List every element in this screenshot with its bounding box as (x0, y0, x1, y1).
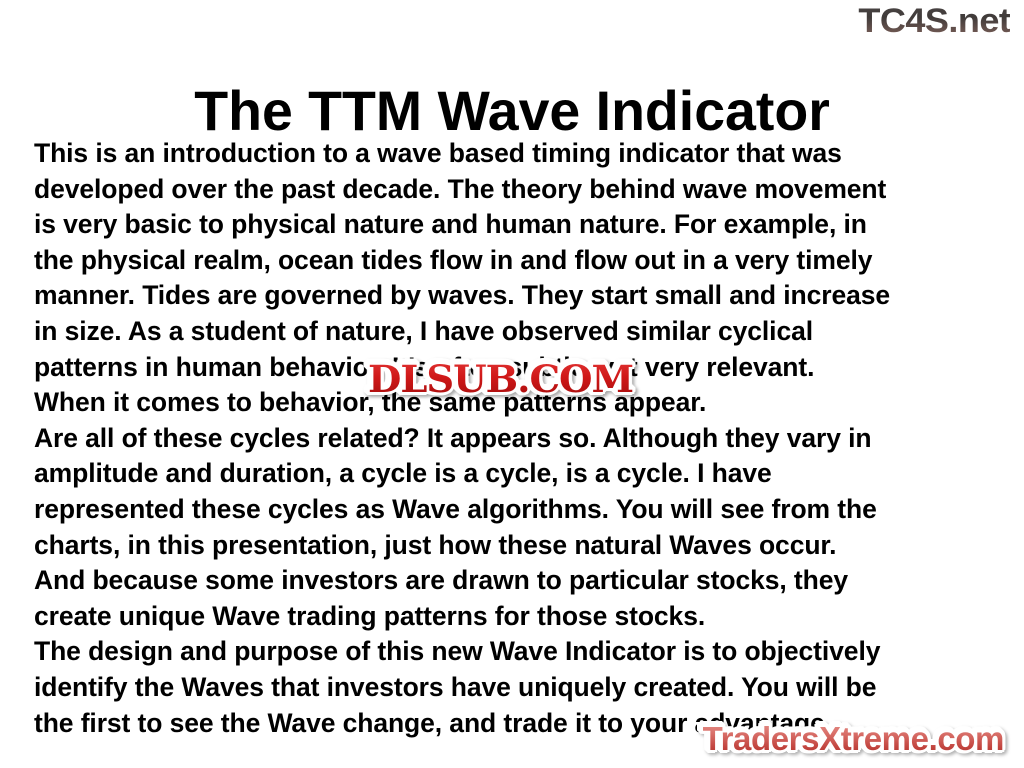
body-line: the physical realm, ocean tides flow in … (34, 243, 994, 279)
body-line: in size. As a student of nature, I have … (34, 314, 994, 350)
watermark-tradersxtreme: TradersXtreme.com (703, 720, 1004, 758)
page-title: The TTM Wave Indicator (5, 80, 1019, 142)
body-line: amplitude and duration, a cycle is a cyc… (34, 456, 994, 492)
body-line: developed over the past decade. The theo… (34, 172, 994, 208)
body-line: manner. Tides are governed by waves. The… (34, 278, 994, 314)
body-copy: This is an introduction to a wave based … (34, 136, 994, 741)
body-line: represented these cycles as Wave algorit… (34, 492, 994, 528)
body-line: This is an introduction to a wave based … (34, 136, 994, 172)
body-line: create unique Wave trading patterns for … (34, 599, 994, 635)
body-line: And because some investors are drawn to … (34, 563, 994, 599)
slide-canvas: TC4S.net The TTM Wave Indicator This is … (0, 0, 1024, 768)
body-line: Are all of these cycles related? It appe… (34, 421, 994, 457)
body-line: The design and purpose of this new Wave … (34, 634, 994, 670)
watermark-dlsub: DLSUB.COM (368, 359, 633, 399)
body-line: charts, in this presentation, just how t… (34, 528, 994, 564)
body-line: is very basic to physical nature and hum… (34, 207, 994, 243)
body-line: identify the Waves that investors have u… (34, 670, 994, 706)
brand-logo-tc4s: TC4S.net (858, 2, 1010, 40)
